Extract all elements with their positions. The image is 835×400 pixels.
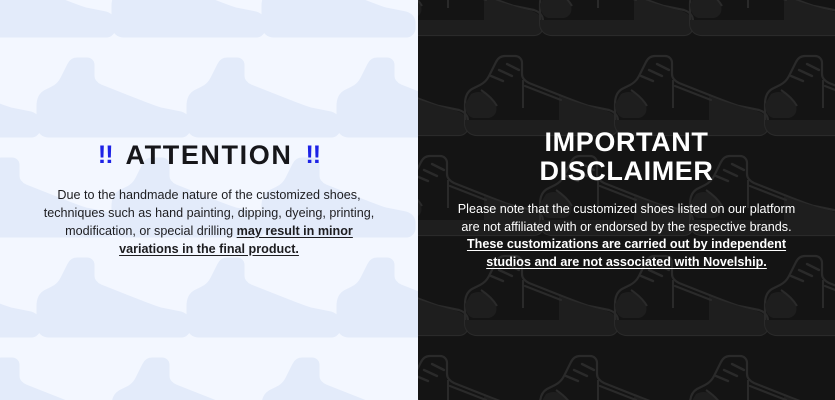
disclaimer-heading-line-2: DISCLAIMER	[452, 157, 801, 186]
double-exclamation-right-icon: !!	[305, 142, 320, 169]
disclaimer-content: IMPORTANT DISCLAIMER Please note that th…	[418, 128, 835, 272]
disclaimer-heading: IMPORTANT DISCLAIMER	[452, 128, 801, 186]
promo-banner: !! ATTENTION !! Due to the handmade natu…	[0, 0, 835, 400]
attention-panel: !! ATTENTION !! Due to the handmade natu…	[0, 0, 418, 400]
attention-content: !! ATTENTION !! Due to the handmade natu…	[0, 141, 418, 259]
disclaimer-body-emphasis: These customizations are carried out by …	[467, 237, 786, 269]
disclaimer-body-plain: Please note that the customized shoes li…	[458, 202, 795, 234]
attention-body: Due to the handmade nature of the custom…	[34, 187, 384, 259]
disclaimer-heading-line-1: IMPORTANT	[452, 128, 801, 157]
attention-heading-text: ATTENTION	[126, 141, 293, 170]
double-exclamation-left-icon: !!	[98, 142, 113, 169]
attention-heading: !! ATTENTION !!	[34, 141, 384, 170]
disclaimer-body: Please note that the customized shoes li…	[452, 201, 801, 273]
disclaimer-panel: IMPORTANT DISCLAIMER Please note that th…	[418, 0, 835, 400]
